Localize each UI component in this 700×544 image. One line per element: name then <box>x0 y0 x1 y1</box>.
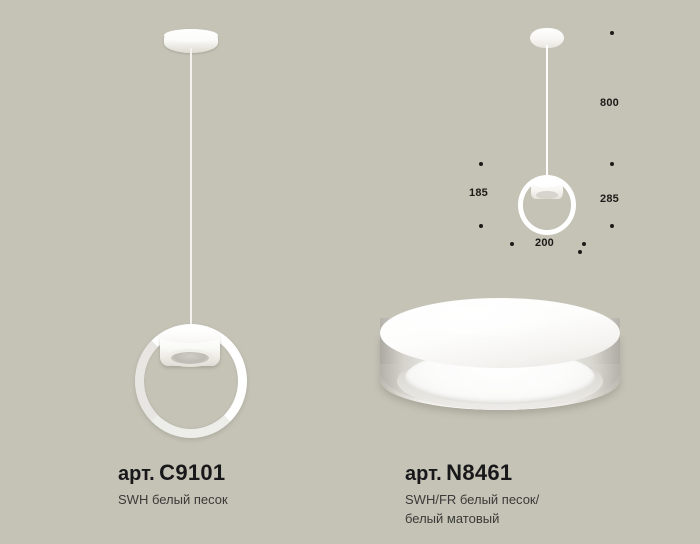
product-image-c9101 <box>0 0 350 455</box>
dim-marker-dot <box>610 31 614 35</box>
article-code: C9101 <box>159 460 225 485</box>
dim-marker-dot <box>582 242 586 246</box>
article-line: арт. C9101 <box>118 462 228 484</box>
dimension-label-ring-width: 200 <box>535 237 554 249</box>
article-code: N8461 <box>446 460 512 485</box>
finish-description-line: белый матовый <box>405 510 539 529</box>
product-caption-c9101: арт. C9101 SWH белый песок <box>118 462 228 510</box>
product-catalog-canvas: 800 285 185 200 арт. C9101 SWH белый пес… <box>0 0 700 544</box>
dim-marker-dot <box>510 242 514 246</box>
diagram-spot-top-icon <box>531 179 563 187</box>
article-prefix: арт. <box>405 463 442 485</box>
diagram-spot-lens-icon <box>536 191 558 199</box>
diagram-cable-icon <box>546 45 548 180</box>
dim-marker-dot <box>479 224 483 228</box>
spot-lens-icon <box>171 352 209 364</box>
spot-head-top-icon <box>160 330 220 343</box>
dimension-diagram: 800 285 185 200 <box>455 18 655 273</box>
dimension-label-ring-height: 185 <box>469 187 488 199</box>
dimension-label-suspension-height: 800 <box>600 97 619 109</box>
dim-marker-dot <box>610 162 614 166</box>
dimension-label-fixture-height: 285 <box>600 193 619 205</box>
dim-marker-dot <box>479 162 483 166</box>
suspension-cable-icon <box>190 48 192 330</box>
ceiling-canopy-top-icon <box>164 29 218 42</box>
product-caption-n8461: арт. N8461 SWH/FR белый песок/ белый мат… <box>405 462 539 529</box>
finish-description-line: SWH/FR белый песок/ <box>405 491 539 510</box>
dim-marker-dot <box>578 250 582 254</box>
article-line: арт. N8461 <box>405 462 539 484</box>
article-prefix: арт. <box>118 463 155 485</box>
finish-description-line: SWH белый песок <box>118 491 228 510</box>
dim-marker-dot <box>610 224 614 228</box>
drum-top-highlight-icon <box>410 303 570 341</box>
